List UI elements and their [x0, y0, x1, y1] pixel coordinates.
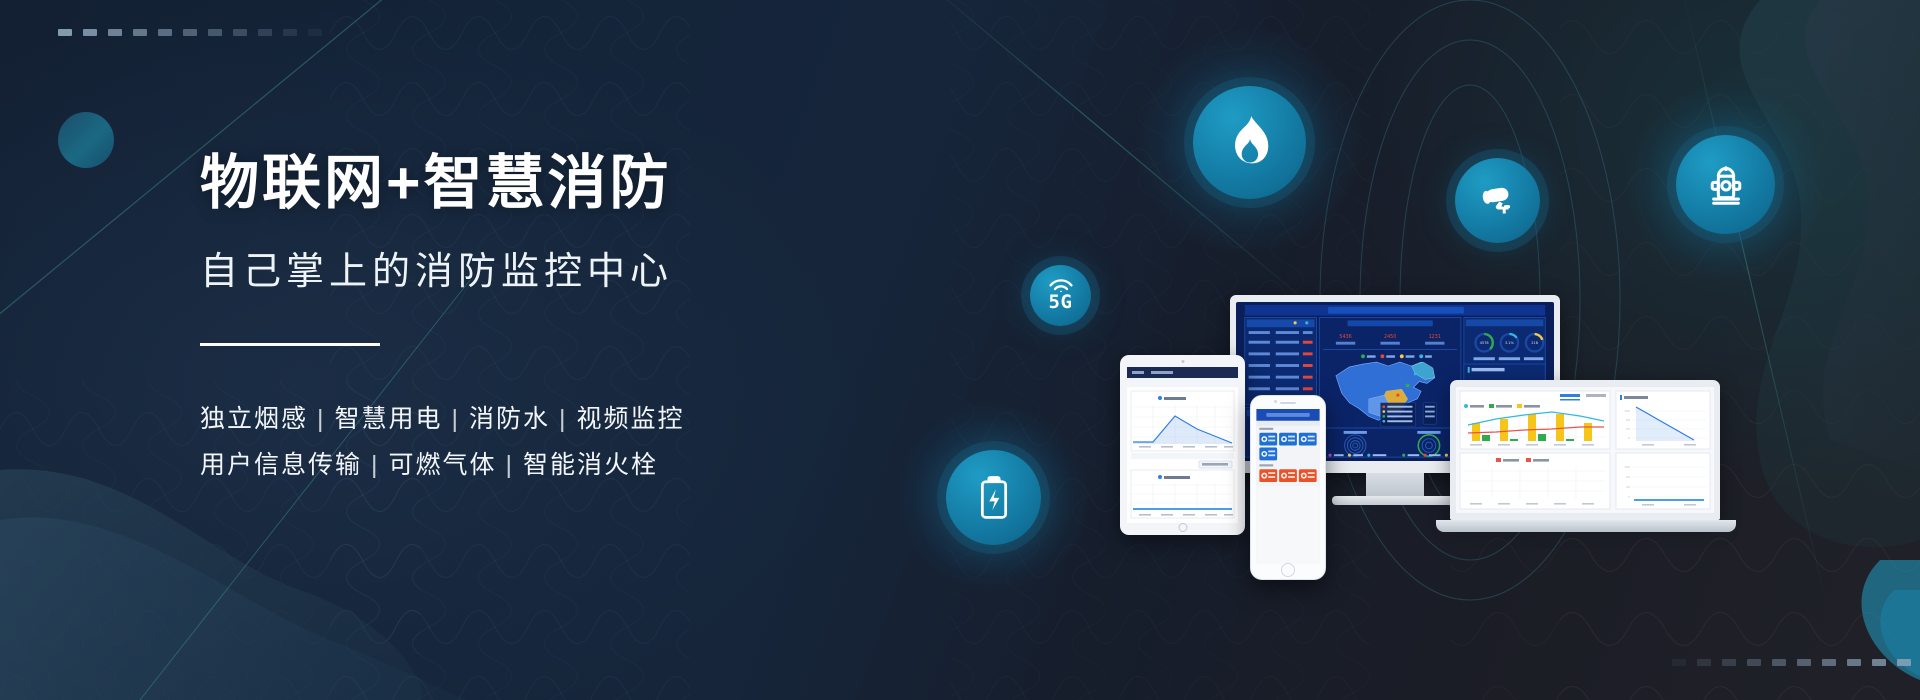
hero-feature-list: 独立烟感|智慧用电|消防水|视频监控 用户信息传输|可燃气体|智能消火栓 [200, 396, 920, 489]
5g-signal-icon: 5G [1048, 279, 1074, 312]
feature-item: 可燃气体 [389, 451, 497, 479]
decorative-dash [1872, 659, 1886, 666]
hero-copy: 物联网+智慧消防 自己掌上的消防监控中心 独立烟感|智慧用电|消防水|视频监控 … [200, 150, 920, 488]
badge-battery[interactable] [946, 450, 1041, 545]
decorative-dash [258, 29, 272, 36]
badge-camera[interactable] [1455, 158, 1540, 243]
feature-line-2: 用户信息传输|可燃气体|智能消火栓 [200, 442, 920, 488]
decorative-dash [283, 29, 297, 36]
hero-banner: 物联网+智慧消防 自己掌上的消防监控中心 独立烟感|智慧用电|消防水|视频监控 … [0, 0, 1920, 700]
svg-text:5: 5 [1628, 436, 1630, 440]
svg-text:100: 100 [1624, 465, 1630, 469]
badge-fire[interactable] [1193, 86, 1306, 199]
svg-text:60: 60 [1626, 475, 1630, 479]
svg-text:5436: 5436 [1339, 334, 1351, 340]
decorative-dash [1797, 659, 1811, 666]
decorative-dash [1772, 659, 1786, 666]
tablet-home-button[interactable] [1178, 523, 1187, 532]
device-showcase: 543624501231 [1120, 285, 1880, 585]
svg-text:1231: 1231 [1429, 334, 1441, 340]
laptop-lid: 10060305 [1450, 380, 1720, 520]
decorative-dash [158, 29, 172, 36]
laptop-base [1436, 520, 1736, 532]
decorative-dash [1897, 659, 1911, 666]
phone-speaker [1280, 402, 1296, 404]
svg-text:5: 5 [1628, 495, 1630, 499]
decorative-dash [1747, 659, 1761, 666]
decorative-dash [1722, 659, 1736, 666]
hero-divider [200, 343, 380, 346]
smartphone-device [1250, 395, 1326, 580]
badge-5g[interactable]: 5G [1030, 265, 1091, 326]
svg-text:60: 60 [1626, 418, 1630, 422]
decorative-dash [83, 29, 97, 36]
laptop-dashboard-graphic: 10060305 [1456, 387, 1714, 513]
cctv-camera-icon [1478, 184, 1518, 218]
decorative-dash [183, 29, 197, 36]
svg-text:218: 218 [1531, 341, 1538, 345]
decorative-dash [108, 29, 122, 36]
badge-hydrant[interactable] [1676, 135, 1775, 234]
feature-item: 视频监控 [577, 405, 685, 433]
svg-text:100: 100 [1624, 409, 1630, 413]
decorative-circle-top-left [58, 112, 114, 168]
mobile-app-graphic [1256, 409, 1320, 564]
tablet-device [1120, 355, 1245, 535]
decorative-dash [1672, 659, 1686, 666]
decorative-dash [1697, 659, 1711, 666]
decorative-dash [1822, 659, 1836, 666]
feature-item: 智慧用电 [335, 405, 443, 433]
hero-subheadline: 自己掌上的消防监控中心 [200, 240, 920, 295]
phone-front-camera [1274, 400, 1277, 403]
decorative-dashes-top-left [58, 29, 322, 36]
feature-line-1: 独立烟感|智慧用电|消防水|视频监控 [200, 396, 920, 442]
svg-text:2450: 2450 [1384, 334, 1396, 340]
tablet-camera-dot [1181, 360, 1184, 363]
tablet-dashboard-graphic [1127, 367, 1238, 523]
feature-separator: | [497, 451, 524, 479]
feature-item: 消防水 [469, 405, 550, 433]
decorative-dash [58, 29, 72, 36]
feature-item: 独立烟感 [200, 405, 308, 433]
feature-separator: | [362, 451, 389, 479]
decorative-dash [308, 29, 322, 36]
decorative-dash [233, 29, 247, 36]
svg-text:4578: 4578 [1480, 341, 1489, 345]
laptop-device: 10060305 [1450, 380, 1750, 550]
hero-headline: 物联网+智慧消防 [200, 150, 920, 218]
battery-bolt-icon [977, 475, 1011, 521]
feature-item: 用户信息传输 [200, 451, 362, 479]
svg-text:30: 30 [1626, 485, 1630, 489]
fire-hydrant-icon [1704, 161, 1748, 209]
feature-separator: | [308, 405, 335, 433]
decorative-dashes-bottom-right [1672, 659, 1920, 666]
badge-5g-label: 5G [1049, 293, 1073, 312]
svg-text:3.1%: 3.1% [1505, 341, 1515, 345]
feature-separator: | [550, 405, 577, 433]
tablet-screen[interactable] [1127, 367, 1238, 523]
phone-home-button[interactable] [1281, 563, 1295, 577]
monitor-base [1332, 496, 1458, 505]
decorative-dash [133, 29, 147, 36]
feature-separator: | [443, 405, 470, 433]
svg-text:30: 30 [1626, 427, 1630, 431]
feature-item: 智能消火栓 [523, 451, 658, 479]
decorative-dash [1847, 659, 1861, 666]
decorative-dash [208, 29, 222, 36]
laptop-screen[interactable]: 10060305 [1456, 387, 1714, 513]
fire-icon [1225, 116, 1275, 170]
phone-screen[interactable] [1256, 409, 1320, 564]
